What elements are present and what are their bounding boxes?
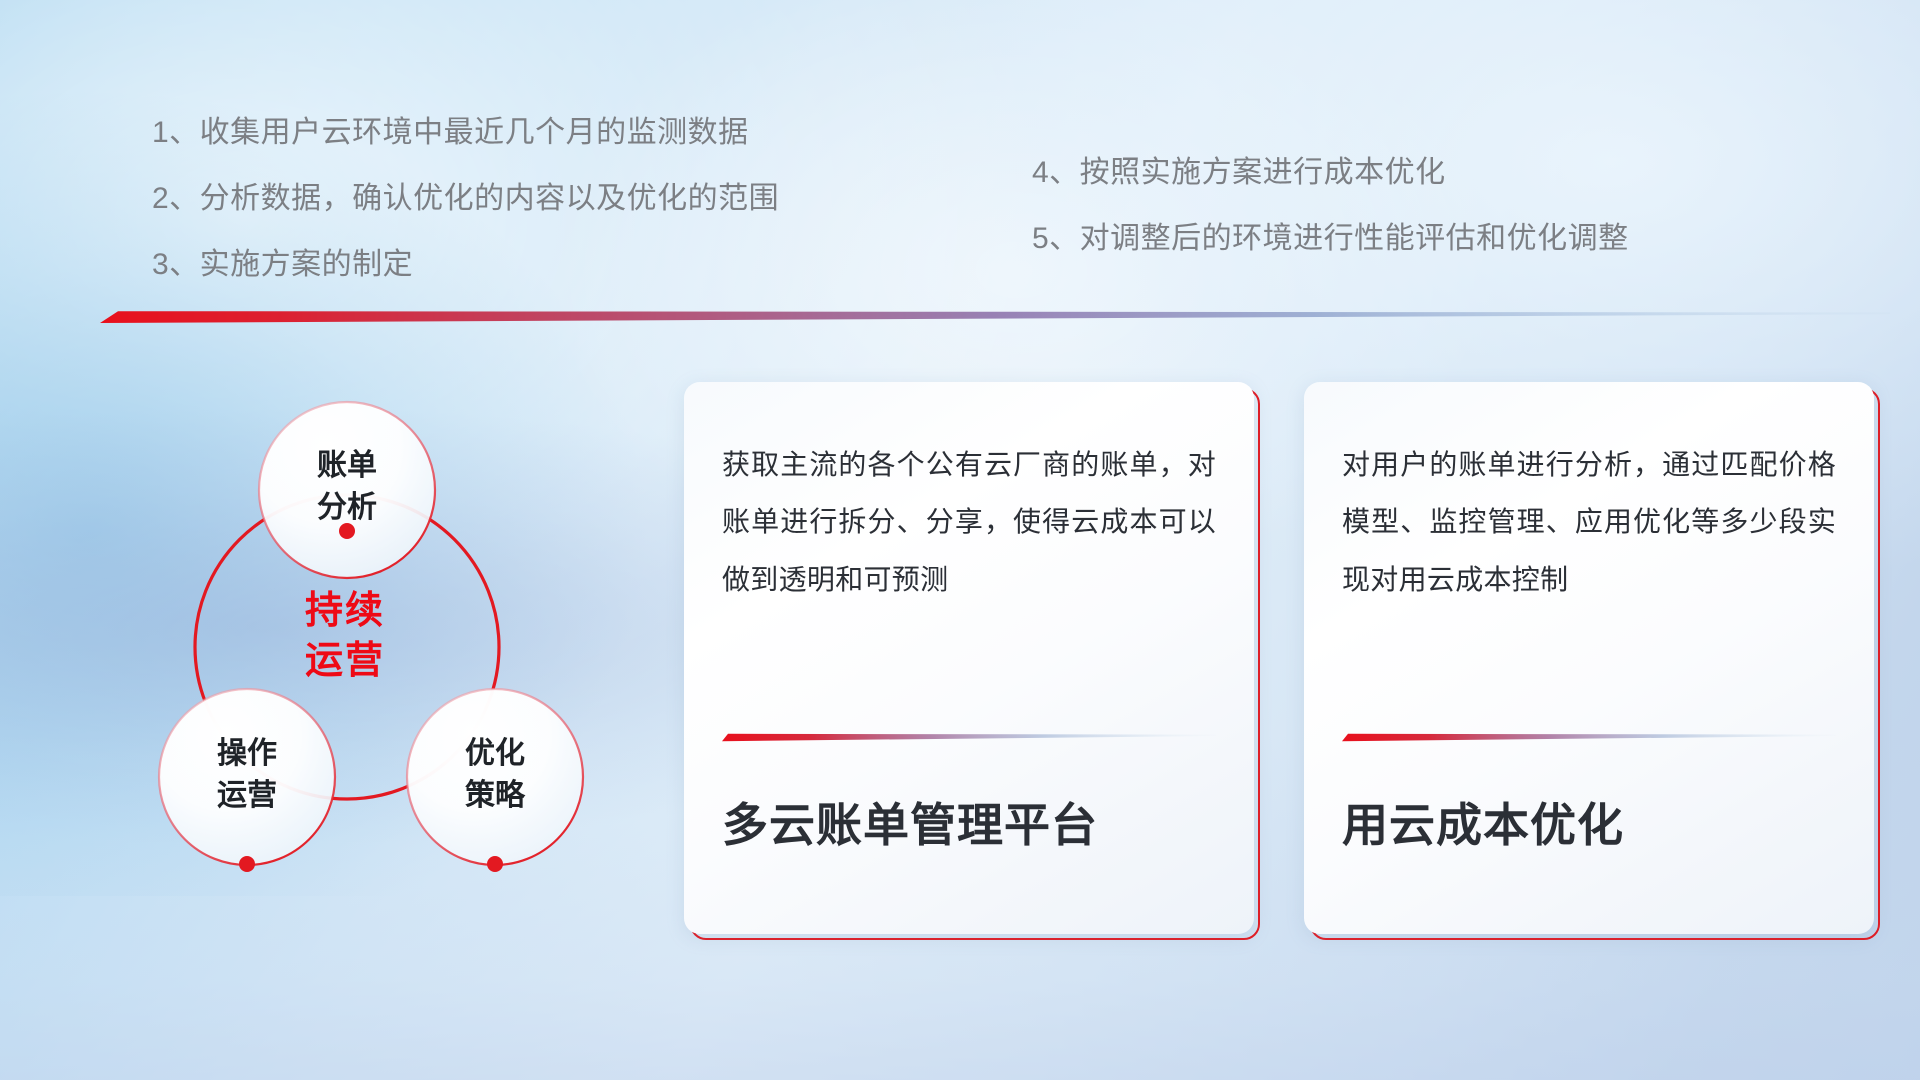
diagram-canvas: 账单 分析 操作 运营 优化 策略 持续 运营 <box>95 345 655 955</box>
steps-column-right: 4、按照实施方案进行成本优化 5、对调整后的环境进行性能评估和优化调整 <box>1032 118 1862 316</box>
step-item-5: 5、对调整后的环境进行性能评估和优化调整 <box>1032 224 1862 254</box>
section-divider-shape <box>100 310 1890 324</box>
diagram-node-dot-bottom-right <box>487 856 503 872</box>
feature-card-title: 用云成本优化 <box>1342 738 1836 848</box>
feature-card-surface: 对用户的账单进行分析，通过匹配价格模型、监控管理、应用优化等多少段实现对用云成本… <box>1304 382 1874 934</box>
feature-card-cloud-cost-optimization[interactable]: 对用户的账单进行分析，通过匹配价格模型、监控管理、应用优化等多少段实现对用云成本… <box>1310 388 1880 940</box>
diagram-node-label: 账单 <box>317 449 377 482</box>
diagram-node-operations[interactable]: 操作 运营 <box>159 689 335 865</box>
step-item-1: 1、收集用户云环境中最近几个月的监测数据 <box>152 118 1032 148</box>
diagram-center-label-line1: 持续 <box>305 590 385 632</box>
feature-card-rule-shape <box>722 733 1216 742</box>
feature-card-multi-cloud-billing[interactable]: 获取主流的各个公有云厂商的账单，对账单进行拆分、分享，使得云成本可以做到透明和可… <box>690 388 1260 940</box>
continuous-operation-diagram: 账单 分析 操作 运营 优化 策略 持续 运营 <box>95 345 655 955</box>
feature-card-surface: 获取主流的各个公有云厂商的账单，对账单进行拆分、分享，使得云成本可以做到透明和可… <box>684 382 1254 934</box>
steps-list: 1、收集用户云环境中最近几个月的监测数据 2、分析数据，确认优化的内容以及优化的… <box>152 118 1862 316</box>
step-item-2: 2、分析数据，确认优化的内容以及优化的范围 <box>152 184 1032 214</box>
steps-column-left: 1、收集用户云环境中最近几个月的监测数据 2、分析数据，确认优化的内容以及优化的… <box>152 118 1032 316</box>
diagram-node-dot-top <box>339 523 355 539</box>
feature-card-rule <box>1342 729 1836 738</box>
step-item-3: 3、实施方案的制定 <box>152 250 1032 280</box>
diagram-node-label: 操作 <box>217 737 277 770</box>
step-item-4: 4、按照实施方案进行成本优化 <box>1032 158 1862 188</box>
feature-card-description: 获取主流的各个公有云厂商的账单，对账单进行拆分、分享，使得云成本可以做到透明和可… <box>722 436 1216 682</box>
diagram-center-label-line2: 运营 <box>305 640 385 682</box>
diagram-node-label: 优化 <box>465 737 525 770</box>
feature-card-title: 多云账单管理平台 <box>722 738 1216 848</box>
feature-card-description: 对用户的账单进行分析，通过匹配价格模型、监控管理、应用优化等多少段实现对用云成本… <box>1342 436 1836 682</box>
diagram-node-label: 策略 <box>465 778 526 812</box>
section-divider <box>100 310 1890 324</box>
diagram-node-optimization-strategy[interactable]: 优化 策略 <box>407 689 583 865</box>
feature-card-rule-shape <box>1342 733 1836 742</box>
diagram-node-label: 运营 <box>217 779 277 812</box>
diagram-node-dot-bottom-left <box>239 856 255 872</box>
diagram-node-label: 分析 <box>317 491 377 524</box>
feature-card-rule <box>722 729 1216 738</box>
